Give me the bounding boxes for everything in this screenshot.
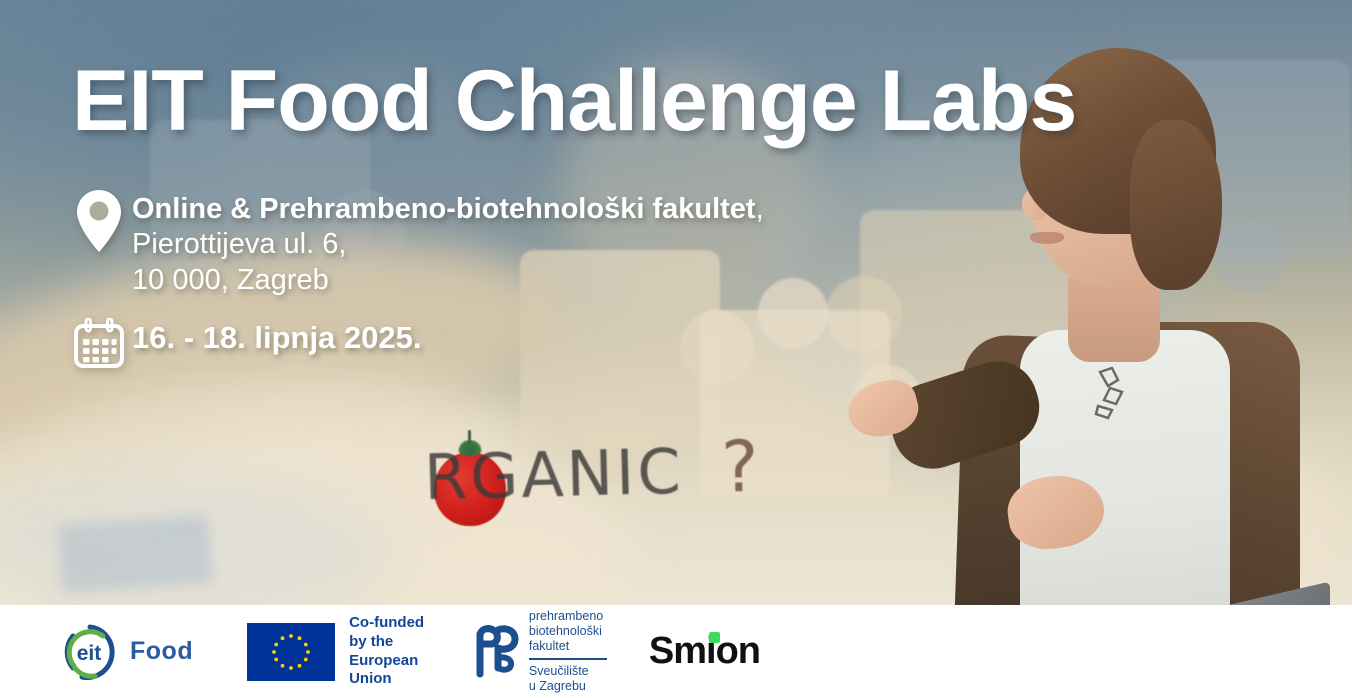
location-text: Online & Prehrambeno-biotehnološki fakul… <box>132 190 832 298</box>
logo-pbf: prehrambeno biotehnološki fakultet Sveuč… <box>474 609 607 695</box>
pbf-university: Sveučilište u Zagrebu <box>529 664 607 695</box>
eit-food-wordmark: Food <box>130 637 193 666</box>
logo-footer: eit Food <box>0 605 1352 698</box>
smion-green-dot-icon <box>709 632 720 643</box>
location-row: Online & Prehrambeno-biotehnološki fakul… <box>66 190 832 298</box>
pbf-line4: Sveučilište <box>529 664 607 679</box>
eu-funding-text: Co-funded by the European Union <box>349 614 436 689</box>
pbf-logo-icon <box>474 624 520 680</box>
logo-smion: Smion <box>649 630 760 673</box>
venue-name: Online & Prehrambeno-biotehnološki fakul… <box>132 193 756 225</box>
banner-content: EIT Food Challenge Labs Online & Prehram… <box>0 0 1352 698</box>
eu-flag-icon <box>247 623 335 681</box>
eu-funding-line2: European Union <box>349 652 436 690</box>
pbf-line1: prehrambeno <box>529 609 607 624</box>
logo-strip: eit Food <box>0 605 760 698</box>
date-row: 16. - 18. lipnja 2025. <box>66 312 422 368</box>
logo-eit-food: eit Food <box>62 624 193 680</box>
location-icon-wrap <box>66 190 132 252</box>
logo-european-union: Co-funded by the European Union <box>247 614 436 689</box>
venue-city: 10 000, Zagreb <box>132 264 329 296</box>
pbf-line3: fakultet <box>529 639 607 654</box>
map-pin-icon <box>77 190 121 252</box>
event-date: 16. - 18. lipnja 2025. <box>132 312 422 356</box>
date-icon-wrap <box>66 312 132 368</box>
svg-text:eit: eit <box>77 642 102 665</box>
eit-circle-logo-icon: eit <box>62 624 118 680</box>
page-title: EIT Food Challenge Labs <box>72 58 1076 144</box>
smion-wordmark: Smion <box>649 630 760 673</box>
pbf-divider <box>529 658 607 660</box>
eit-food-challenge-labs-banner: RGANIC? EIT Food Challenge Labs <box>0 0 1352 698</box>
calendar-icon <box>74 318 124 368</box>
eu-funding-line1: Co-funded by the <box>349 614 436 652</box>
pbf-text-block: prehrambeno biotehnološki fakultet Sveuč… <box>529 609 607 695</box>
pbf-line5: u Zagrebu <box>529 679 607 694</box>
pbf-name: prehrambeno biotehnološki fakultet <box>529 609 607 655</box>
pbf-line2: biotehnološki <box>529 624 607 639</box>
smion-text: Smion <box>649 630 760 672</box>
